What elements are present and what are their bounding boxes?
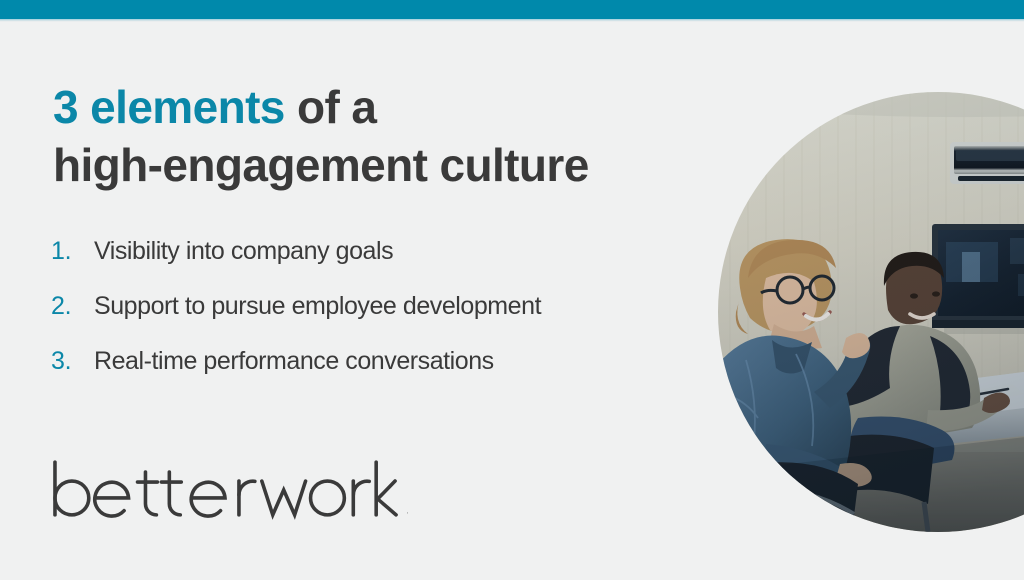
list-item: 3. Real-time performance conversations: [51, 347, 711, 402]
list-item: 1. Visibility into company goals: [51, 237, 711, 292]
headline-line-two: high-engagement culture: [53, 139, 589, 191]
headline-accent-text: 3 elements: [53, 81, 285, 133]
headline-rest-text: of a: [285, 81, 377, 133]
content-column: 3 elements of a high-engagement culture …: [0, 0, 720, 580]
elements-list: 1. Visibility into company goals 2. Supp…: [51, 237, 711, 402]
meeting-room-photo: [718, 92, 1024, 532]
list-item-label: Visibility into company goals: [94, 237, 393, 266]
list-item-label: Real-time performance conversations: [94, 347, 494, 376]
list-item-label: Support to pursue employee development: [94, 292, 541, 321]
list-item-number: 3.: [51, 347, 94, 376]
page-title: 3 elements of a high-engagement culture: [53, 79, 713, 195]
list-item-number: 1.: [51, 237, 94, 266]
list-item: 2. Support to pursue employee developmen…: [51, 292, 711, 347]
betterworks-logo: [50, 458, 408, 520]
list-item-number: 2.: [51, 292, 94, 321]
